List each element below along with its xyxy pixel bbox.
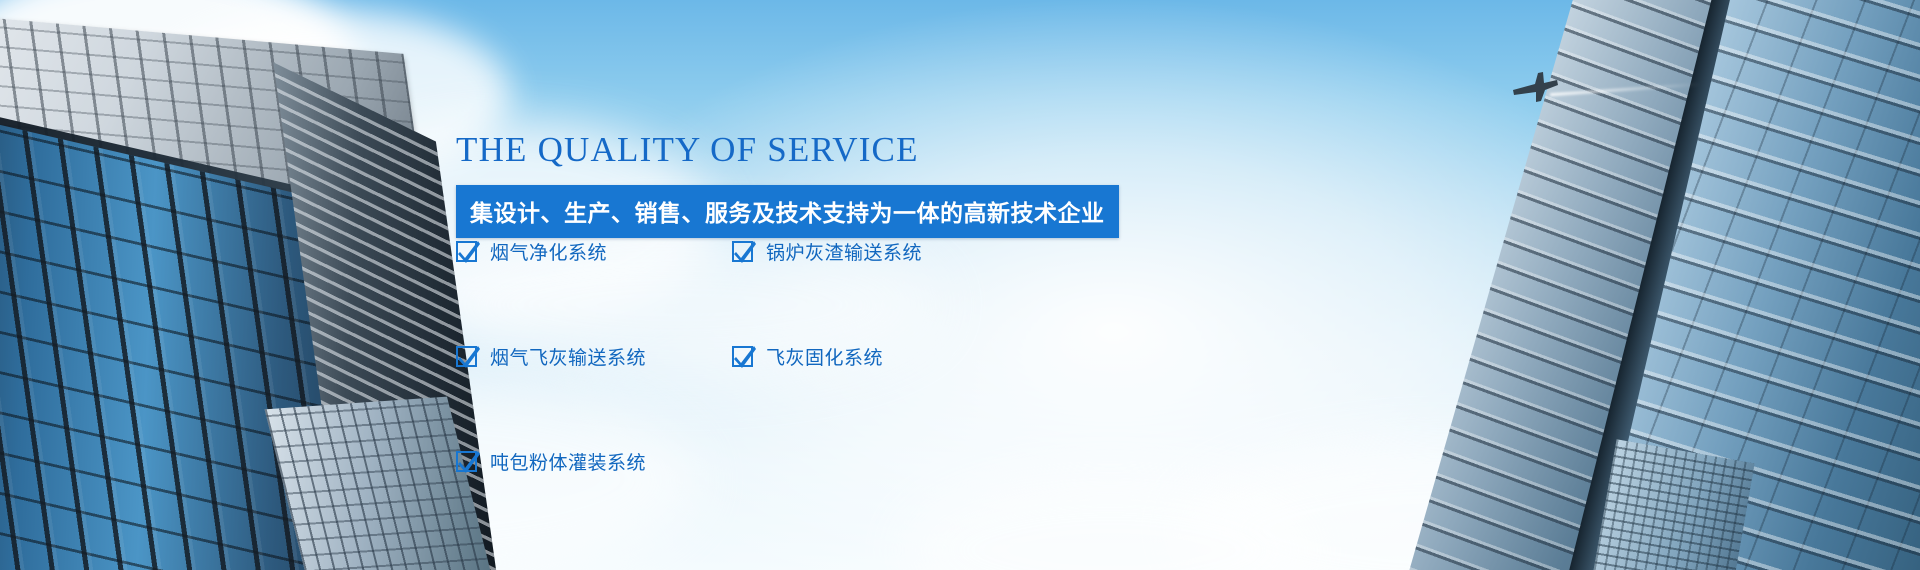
feature-label: 飞灰固化系统 [766, 343, 883, 370]
feature-label: 烟气净化系统 [490, 238, 607, 265]
tagline-ribbon: 集设计、生产、销售、服务及技术支持为一体的高新技术企业 [456, 185, 1119, 238]
checkbox-checked-icon [732, 346, 753, 367]
feature-item-boiler-ash-conveying[interactable]: 锅炉灰渣输送系统 [732, 238, 922, 265]
hero-banner: THE QUALITY OF SERVICE 集设计、生产、销售、服务及技术支持… [0, 0, 1920, 570]
feature-list: 烟气净化系统 锅炉灰渣输送系统 [456, 238, 1256, 513]
list-item: 烟气净化系统 锅炉灰渣输送系统 [456, 238, 1256, 303]
feature-item-flue-gas-purification[interactable]: 烟气净化系统 [456, 238, 732, 265]
page-title: THE QUALITY OF SERVICE [456, 132, 1256, 167]
feature-label: 吨包粉体灌装系统 [490, 448, 646, 475]
checkbox-checked-icon [732, 241, 753, 262]
feature-item-fly-ash-conveying[interactable]: 烟气飞灰输送系统 [456, 343, 732, 370]
feature-item-fly-ash-solidification[interactable]: 飞灰固化系统 [732, 343, 883, 370]
checkbox-checked-icon [456, 241, 477, 262]
feature-label: 烟气飞灰输送系统 [490, 343, 646, 370]
list-item: 烟气飞灰输送系统 飞灰固化系统 [456, 343, 1256, 408]
skyscraper-icon [1340, 0, 1920, 570]
checkbox-checked-icon [456, 346, 477, 367]
feature-label: 锅炉灰渣输送系统 [766, 238, 922, 265]
checkbox-checked-icon [456, 451, 477, 472]
feature-item-bulk-bag-powder-filling[interactable]: 吨包粉体灌装系统 [456, 448, 732, 475]
list-item: 吨包粉体灌装系统 [456, 448, 1256, 513]
airplane-icon [1505, 68, 1565, 108]
banner-content: THE QUALITY OF SERVICE 集设计、生产、销售、服务及技术支持… [456, 132, 1256, 553]
